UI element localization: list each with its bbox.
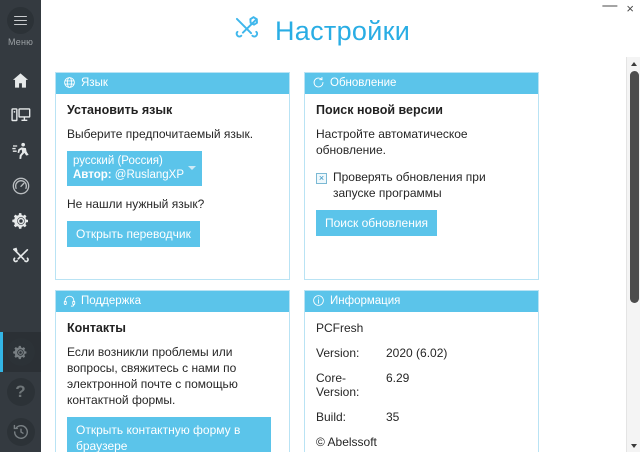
info-version-key: Version: [316,346,386,360]
settings-gear-icon [7,338,35,366]
info-product-name: PCFresh [316,321,527,335]
settings-content: Язык Установить язык Выберите предпочита… [41,62,611,452]
language-author-value: @RuslangXP [115,169,184,181]
refresh-icon [312,76,325,92]
sidebar-bottom: ? [0,332,41,452]
card-update-title: Обновление [330,73,396,94]
info-row-version: Version: 2020 (6.02) [316,346,527,360]
tools-icon [11,246,31,266]
card-info-header: Информация [305,291,538,312]
card-support-body: Контакты Если возникли проблемы или вопр… [56,312,289,452]
headset-icon [63,294,76,310]
card-support-header: Поддержка [56,291,289,312]
language-author-label: Автор: [73,169,112,181]
card-info-title: Информация [330,291,400,312]
globe-icon [63,76,76,92]
info-version-value: 2020 (6.02) [386,346,447,360]
check-updates-label: Проверять обновления при запуске програм… [333,169,527,201]
info-circle-icon [312,294,325,310]
language-description: Выберите предпочитаемый язык. [67,126,278,142]
card-language-header: Язык [56,73,289,94]
info-build-key: Build: [316,410,386,424]
history-clock-icon [7,418,35,446]
open-translator-button[interactable]: Открыть переводчик [67,221,200,247]
close-button[interactable]: × [626,2,634,16]
card-info-body: PCFresh Version: 2020 (6.02) Core-Versio… [305,312,538,452]
open-contact-form-button[interactable]: Открыть контактную форму в браузере [67,417,271,452]
language-select-value: русский (Россия) [73,154,186,168]
check-updates-checkbox[interactable]: × [316,173,327,184]
scrollbar-thumb[interactable] [630,71,639,303]
info-core-version-value: 6.29 [386,371,409,399]
sidebar-item-computer[interactable] [0,98,41,133]
page-title: Настройки [275,16,410,47]
card-info: Информация PCFresh Version: 2020 (6.02) … [304,290,539,452]
sidebar-item-settings[interactable] [0,203,41,238]
computer-icon [11,106,31,125]
sidebar-item-tools[interactable] [0,238,41,273]
menu-button[interactable]: Меню [0,0,41,47]
sidebar-item-settings-active[interactable] [0,332,41,372]
menu-label: Меню [8,37,33,47]
scroll-down-arrow[interactable] [627,439,640,452]
sidebar-item-speed[interactable] [0,133,41,168]
card-update-body: Поиск новой версии Настройте автоматичес… [305,94,538,279]
sidebar: Меню [0,0,41,452]
window-controls: — × [602,2,634,16]
hamburger-icon [7,7,34,34]
sidebar-item-home[interactable] [0,63,41,98]
info-row-core-version: Core-Version: 6.29 [316,371,527,399]
info-copyright: © Abelssoft [316,435,527,449]
info-row-build: Build: 35 [316,410,527,424]
card-language-body: Установить язык Выберите предпочитаемый … [56,94,289,279]
scroll-up-arrow[interactable] [627,57,640,70]
gauge-icon [11,176,31,196]
check-updates-on-start-row[interactable]: × Проверять обновления при запуске прогр… [316,169,527,201]
sidebar-nav [0,63,41,273]
card-language: Язык Установить язык Выберите предпочита… [55,72,290,280]
tools-crossed-icon [229,13,265,49]
help-question-icon: ? [7,378,35,406]
update-heading: Поиск новой версии [316,103,527,117]
support-heading: Контакты [67,321,278,335]
search-updates-button[interactable]: Поиск обновления [316,210,437,236]
info-build-value: 35 [386,410,399,424]
update-description: Настройте автоматическое обновление. [316,126,527,158]
card-update-header: Обновление [305,73,538,94]
app-window: — × Меню [0,0,640,452]
sidebar-item-performance[interactable] [0,168,41,203]
card-language-title: Язык [81,73,108,94]
language-select[interactable]: русский (Россия) Автор: @RuslangXP [67,151,202,186]
language-question: Не нашли нужный язык? [67,196,278,212]
chevron-down-icon [188,166,196,170]
support-description: Если возникли проблемы или вопросы, свяж… [67,344,278,408]
vertical-scrollbar[interactable] [626,57,640,452]
home-icon [11,71,30,90]
card-support-title: Поддержка [81,291,141,312]
card-update: Обновление Поиск новой версии Настройте … [304,72,539,280]
gear-icon [11,211,31,231]
page-header: Настройки [41,0,640,62]
sidebar-item-history[interactable] [0,412,41,452]
cards-grid: Язык Установить язык Выберите предпочита… [55,72,611,452]
card-support: Поддержка Контакты Если возникли проблем… [55,290,290,452]
language-heading: Установить язык [67,103,278,117]
info-core-version-key: Core-Version: [316,371,386,399]
runner-icon [11,141,31,161]
minimize-button[interactable]: — [602,0,617,13]
sidebar-item-help[interactable]: ? [0,372,41,412]
